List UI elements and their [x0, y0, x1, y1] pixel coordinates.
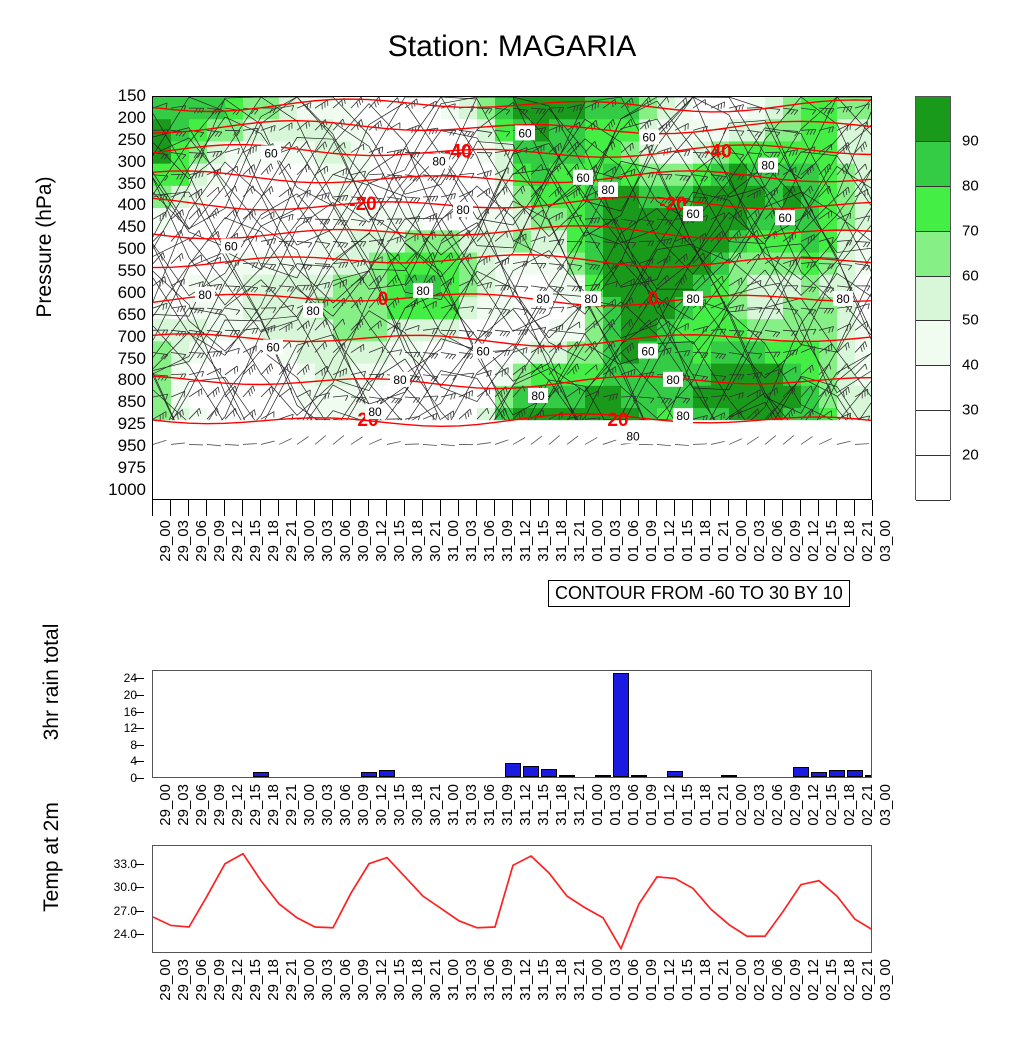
- x-tick-label: 02_12: [805, 784, 822, 826]
- x-tick-label: 01_03: [607, 959, 624, 1001]
- svg-text:80: 80: [601, 183, 615, 197]
- x-tick-label: 01_21: [715, 959, 732, 1001]
- colorbar-tick-label: 50: [962, 312, 979, 329]
- x-tick-label: 02_03: [751, 959, 768, 1001]
- x-tick-mark: [422, 500, 423, 516]
- x-tick-label: 29_06: [193, 520, 210, 562]
- rain-y-tick-mark: [135, 761, 144, 762]
- x-tick-label: 29_09: [211, 520, 228, 562]
- rain-y-tick-mark: [135, 728, 144, 729]
- x-tick-mark: [782, 500, 783, 516]
- x-tick-label: 31_06: [481, 520, 498, 562]
- x-tick-label: 31_12: [517, 959, 534, 1001]
- x-tick-label: 01_03: [607, 784, 624, 826]
- x-tick-label: 01_00: [589, 959, 606, 1001]
- temp-y-tick-mark: [135, 887, 144, 888]
- svg-text:60: 60: [778, 211, 792, 225]
- temperature-line-chart: [152, 845, 872, 953]
- x-tick-label: 30_15: [391, 784, 408, 826]
- x-tick-label: 02_18: [841, 959, 858, 1001]
- x-tick-label: 31_21: [571, 520, 588, 562]
- main-y-tick-label: 750: [118, 349, 146, 369]
- rain-bar: [631, 775, 646, 777]
- time-height-cross-section: -40-40-20-200020206060606080808080606060…: [152, 96, 872, 500]
- svg-text:80: 80: [416, 284, 430, 298]
- temp-y-tick-label: 30.0: [114, 880, 137, 894]
- x-tick-mark: [494, 500, 495, 516]
- svg-text:80: 80: [676, 409, 690, 423]
- x-tick-mark: [638, 500, 639, 516]
- x-tick-label: 30_09: [355, 784, 372, 826]
- svg-text:80: 80: [456, 203, 470, 217]
- x-tick-label: 29_21: [283, 959, 300, 1001]
- rain-y-tick-mark: [135, 745, 144, 746]
- main-y-tick-label: 700: [118, 327, 146, 347]
- x-tick-label: 29_06: [193, 784, 210, 826]
- x-tick-label: 29_00: [157, 784, 174, 826]
- x-tick-label: 29_15: [247, 784, 264, 826]
- x-tick-label: 02_21: [859, 520, 876, 562]
- rain-bar: [865, 775, 872, 777]
- colorbar-segment: [916, 277, 950, 322]
- x-tick-mark: [656, 500, 657, 516]
- svg-text:80: 80: [393, 373, 407, 387]
- temp-y-tick-mark: [135, 934, 144, 935]
- main-y-tick-label: 800: [118, 370, 146, 390]
- x-tick-label: 01_15: [679, 520, 696, 562]
- rain-bar: [721, 775, 736, 777]
- x-tick-label: 29_03: [175, 959, 192, 1001]
- main-y-tick-label: 650: [118, 305, 146, 325]
- colorbar-tick-label: 20: [962, 447, 979, 464]
- rain-bar: [559, 775, 574, 777]
- x-tick-mark: [710, 500, 711, 516]
- main-y-tick-label: 400: [118, 195, 146, 215]
- rain-bar: [505, 763, 520, 777]
- rain-bar: [847, 770, 862, 777]
- humidity-colorbar: [915, 96, 951, 500]
- x-tick-label: 30_06: [337, 784, 354, 826]
- colorbar-tick-label: 30: [962, 402, 979, 419]
- x-tick-label: 31_15: [535, 784, 552, 826]
- temp-y-tick-label: 27.0: [114, 904, 137, 918]
- x-tick-label: 03_00: [877, 520, 894, 562]
- svg-text:60: 60: [264, 147, 278, 161]
- temp-x-axis-labels: 29_0029_0329_0629_0929_1229_1529_1829_21…: [152, 959, 872, 1049]
- x-tick-label: 30_12: [373, 959, 390, 1001]
- colorbar-segment: [916, 232, 950, 277]
- rain-bar: [523, 766, 538, 777]
- x-tick-mark: [764, 500, 765, 516]
- x-tick-label: 30_00: [301, 520, 318, 562]
- colorbar-segment: [916, 187, 950, 232]
- x-tick-label: 01_21: [715, 520, 732, 562]
- svg-text:80: 80: [536, 292, 550, 306]
- x-tick-label: 01_18: [697, 959, 714, 1001]
- contour-caption: CONTOUR FROM -60 TO 30 BY 10: [548, 580, 850, 607]
- x-tick-mark: [458, 500, 459, 516]
- x-tick-label: 30_00: [301, 959, 318, 1001]
- x-tick-label: 29_12: [229, 784, 246, 826]
- x-tick-label: 01_00: [589, 520, 606, 562]
- rain-bar: [811, 772, 826, 777]
- x-tick-mark: [818, 500, 819, 516]
- x-tick-mark: [476, 500, 477, 516]
- main-y-tick-label: 350: [118, 174, 146, 194]
- main-y-axis-title: Pressure (hPa): [33, 137, 57, 357]
- svg-text:-20: -20: [349, 194, 376, 215]
- colorbar-tick-label: 60: [962, 267, 979, 284]
- main-y-tick-label: 925: [118, 414, 146, 434]
- x-tick-label: 01_09: [643, 520, 660, 562]
- x-tick-label: 30_12: [373, 520, 390, 562]
- x-tick-label: 31_06: [481, 784, 498, 826]
- x-tick-mark: [386, 500, 387, 516]
- main-y-tick-label: 150: [118, 86, 146, 106]
- x-tick-label: 30_21: [427, 959, 444, 1001]
- x-tick-mark: [314, 500, 315, 516]
- main-y-tick-label: 950: [118, 436, 146, 456]
- x-tick-label: 01_21: [715, 784, 732, 826]
- svg-text:-20: -20: [659, 194, 686, 215]
- x-tick-mark: [368, 500, 369, 516]
- x-tick-label: 31_03: [463, 784, 480, 826]
- x-tick-label: 02_21: [859, 959, 876, 1001]
- x-tick-mark: [602, 500, 603, 516]
- temp-y-tick-mark: [135, 864, 144, 865]
- x-tick-label: 01_15: [679, 959, 696, 1001]
- x-tick-label: 29_09: [211, 784, 228, 826]
- x-tick-mark: [350, 500, 351, 516]
- x-tick-label: 01_12: [661, 520, 678, 562]
- x-tick-label: 30_21: [427, 520, 444, 562]
- x-tick-label: 29_03: [175, 520, 192, 562]
- x-tick-mark: [206, 500, 207, 516]
- svg-text:80: 80: [368, 405, 382, 419]
- colorbar-segment: [916, 456, 950, 501]
- x-tick-mark: [566, 500, 567, 516]
- x-tick-label: 02_12: [805, 520, 822, 562]
- x-tick-label: 29_21: [283, 520, 300, 562]
- svg-text:80: 80: [584, 292, 598, 306]
- x-tick-label: 31_21: [571, 784, 588, 826]
- colorbar-tick-label: 70: [962, 222, 979, 239]
- svg-text:80: 80: [531, 389, 545, 403]
- x-tick-label: 31_12: [517, 520, 534, 562]
- x-tick-label: 02_00: [733, 784, 750, 826]
- x-tick-mark: [692, 500, 693, 516]
- x-tick-label: 02_15: [823, 959, 840, 1001]
- x-tick-label: 29_15: [247, 520, 264, 562]
- svg-text:60: 60: [476, 345, 490, 359]
- x-tick-label: 02_06: [769, 520, 786, 562]
- x-tick-label: 02_09: [787, 520, 804, 562]
- temp-y-axis-labels: 24.027.030.033.0: [95, 845, 147, 953]
- cross-section-canvas: -40-40-20-200020206060606080808080606060…: [153, 97, 872, 500]
- x-tick-label: 01_12: [661, 959, 678, 1001]
- colorbar-segment: [916, 97, 950, 142]
- x-tick-label: 01_03: [607, 520, 624, 562]
- svg-text:60: 60: [686, 207, 700, 221]
- x-tick-label: 01_18: [697, 520, 714, 562]
- x-tick-label: 02_12: [805, 959, 822, 1001]
- x-tick-label: 03_00: [877, 959, 894, 1001]
- x-tick-label: 01_15: [679, 784, 696, 826]
- main-y-tick-label: 200: [118, 108, 146, 128]
- x-tick-mark: [296, 500, 297, 516]
- rain-y-tick-mark: [135, 695, 144, 696]
- svg-text:60: 60: [642, 130, 656, 144]
- svg-text:0: 0: [378, 289, 389, 310]
- x-tick-mark: [620, 500, 621, 516]
- x-tick-label: 02_06: [769, 784, 786, 826]
- svg-text:80: 80: [836, 292, 850, 306]
- svg-text:-40: -40: [704, 142, 731, 163]
- svg-text:80: 80: [686, 292, 700, 306]
- x-tick-label: 02_03: [751, 520, 768, 562]
- x-tick-label: 30_03: [319, 520, 336, 562]
- figure-root: Station: MAGARIA Pressure (hPa) 15020025…: [0, 0, 1024, 1024]
- x-tick-label: 30_18: [409, 784, 426, 826]
- x-tick-label: 31_09: [499, 959, 516, 1001]
- x-tick-label: 30_15: [391, 959, 408, 1001]
- x-tick-mark: [242, 500, 243, 516]
- x-tick-label: 02_18: [841, 520, 858, 562]
- x-tick-label: 01_09: [643, 784, 660, 826]
- x-tick-mark: [152, 500, 153, 516]
- x-tick-label: 02_09: [787, 959, 804, 1001]
- x-tick-label: 29_03: [175, 784, 192, 826]
- x-tick-label: 30_03: [319, 784, 336, 826]
- x-tick-label: 31_18: [553, 784, 570, 826]
- temp-y-axis-title: Temp at 2m: [40, 747, 64, 967]
- rain-bar: [829, 770, 844, 777]
- x-tick-label: 29_09: [211, 959, 228, 1001]
- x-tick-label: 30_09: [355, 520, 372, 562]
- svg-text:80: 80: [432, 155, 446, 169]
- x-tick-label: 31_06: [481, 959, 498, 1001]
- rain-bar: [793, 767, 808, 777]
- x-tick-label: 02_06: [769, 959, 786, 1001]
- svg-text:80: 80: [626, 429, 640, 443]
- main-y-tick-label: 250: [118, 130, 146, 150]
- x-tick-label: 31_09: [499, 520, 516, 562]
- x-tick-label: 30_00: [301, 784, 318, 826]
- x-tick-label: 31_03: [463, 959, 480, 1001]
- x-tick-label: 29_15: [247, 959, 264, 1001]
- temp-y-tick-mark: [135, 911, 144, 912]
- rain-y-tick-mark: [135, 778, 144, 779]
- x-tick-label: 29_12: [229, 959, 246, 1001]
- temperature-canvas: [153, 846, 872, 953]
- svg-text:60: 60: [266, 340, 280, 354]
- x-tick-mark: [836, 500, 837, 516]
- x-tick-label: 30_06: [337, 959, 354, 1001]
- rain-y-tick-mark: [135, 678, 144, 679]
- x-tick-label: 01_06: [625, 959, 642, 1001]
- x-tick-label: 31_15: [535, 959, 552, 1001]
- colorbar-segment: [916, 321, 950, 366]
- x-tick-label: 31_15: [535, 520, 552, 562]
- x-tick-mark: [224, 500, 225, 516]
- x-tick-label: 31_09: [499, 784, 516, 826]
- x-tick-mark: [674, 500, 675, 516]
- svg-text:60: 60: [641, 345, 655, 359]
- rain-bar: [667, 771, 682, 777]
- svg-text:80: 80: [761, 159, 775, 173]
- x-tick-mark: [872, 500, 873, 516]
- x-tick-label: 02_15: [823, 520, 840, 562]
- x-tick-mark: [188, 500, 189, 516]
- main-y-tick-label: 300: [118, 152, 146, 172]
- x-tick-mark: [728, 500, 729, 516]
- x-tick-mark: [530, 500, 531, 516]
- x-tick-label: 30_15: [391, 520, 408, 562]
- x-tick-label: 02_00: [733, 959, 750, 1001]
- x-tick-label: 29_00: [157, 959, 174, 1001]
- main-y-tick-label: 1000: [108, 480, 146, 500]
- x-tick-label: 01_06: [625, 784, 642, 826]
- x-tick-label: 30_03: [319, 959, 336, 1001]
- colorbar-tick-label: 80: [962, 177, 979, 194]
- main-y-tick-label: 550: [118, 261, 146, 281]
- x-tick-label: 01_12: [661, 784, 678, 826]
- x-tick-mark: [404, 500, 405, 516]
- x-tick-label: 02_00: [733, 520, 750, 562]
- x-tick-label: 02_21: [859, 784, 876, 826]
- rain-bar: [541, 769, 556, 777]
- x-tick-label: 02_15: [823, 784, 840, 826]
- rain-bar: [361, 772, 376, 777]
- x-tick-mark: [548, 500, 549, 516]
- rain-bar: [613, 673, 628, 777]
- x-tick-mark: [278, 500, 279, 516]
- x-tick-label: 01_00: [589, 784, 606, 826]
- x-tick-label: 30_21: [427, 784, 444, 826]
- x-tick-mark: [746, 500, 747, 516]
- x-tick-label: 31_00: [445, 784, 462, 826]
- main-y-tick-label: 500: [118, 239, 146, 259]
- x-tick-label: 29_18: [265, 959, 282, 1001]
- temp-y-tick-label: 24.0: [114, 927, 137, 941]
- rain-bar: [595, 775, 610, 777]
- x-tick-mark: [440, 500, 441, 516]
- x-tick-label: 31_21: [571, 959, 588, 1001]
- main-y-tick-label: 850: [118, 392, 146, 412]
- svg-text:20: 20: [607, 410, 628, 431]
- svg-text:0: 0: [648, 289, 659, 310]
- temp-y-tick-label: 33.0: [114, 857, 137, 871]
- colorbar-tick-label: 90: [962, 132, 979, 149]
- rain-bar: [253, 772, 268, 777]
- x-tick-label: 30_09: [355, 959, 372, 1001]
- x-tick-label: 31_00: [445, 520, 462, 562]
- x-tick-label: 02_03: [751, 784, 768, 826]
- rain-y-tick-mark: [135, 712, 144, 713]
- x-tick-label: 29_18: [265, 784, 282, 826]
- rain-bar-chart: [152, 670, 872, 778]
- x-tick-label: 30_18: [409, 520, 426, 562]
- x-tick-label: 01_06: [625, 520, 642, 562]
- x-tick-label: 29_00: [157, 520, 174, 562]
- x-tick-mark: [854, 500, 855, 516]
- x-tick-mark: [800, 500, 801, 516]
- x-tick-label: 01_09: [643, 959, 660, 1001]
- colorbar-segment: [916, 366, 950, 411]
- main-y-axis-labels: 1502002503003504004505005506006507007508…: [60, 96, 146, 500]
- svg-text:60: 60: [576, 171, 590, 185]
- x-tick-label: 31_00: [445, 959, 462, 1001]
- x-tick-mark: [584, 500, 585, 516]
- x-tick-label: 31_18: [553, 520, 570, 562]
- main-y-tick-label: 600: [118, 283, 146, 303]
- x-tick-label: 31_18: [553, 959, 570, 1001]
- x-tick-label: 29_21: [283, 784, 300, 826]
- x-tick-label: 30_12: [373, 784, 390, 826]
- x-tick-mark: [512, 500, 513, 516]
- x-tick-label: 02_09: [787, 784, 804, 826]
- svg-text:80: 80: [666, 373, 680, 387]
- rain-bar: [379, 770, 394, 777]
- x-tick-mark: [170, 500, 171, 516]
- svg-text:80: 80: [198, 288, 212, 302]
- x-tick-label: 29_18: [265, 520, 282, 562]
- svg-text:80: 80: [306, 304, 320, 318]
- rain-y-axis-labels: 04812162024: [95, 670, 147, 778]
- page-title: Station: MAGARIA: [0, 30, 1024, 64]
- x-tick-label: 29_06: [193, 959, 210, 1001]
- svg-text:60: 60: [224, 239, 238, 253]
- colorbar-tick-label: 40: [962, 357, 979, 374]
- x-tick-label: 02_18: [841, 784, 858, 826]
- x-tick-mark: [332, 500, 333, 516]
- colorbar-segment: [916, 411, 950, 456]
- x-tick-label: 01_18: [697, 784, 714, 826]
- main-y-tick-label: 975: [118, 458, 146, 478]
- x-tick-label: 31_03: [463, 520, 480, 562]
- x-tick-label: 31_12: [517, 784, 534, 826]
- x-tick-label: 30_18: [409, 959, 426, 1001]
- x-tick-mark: [260, 500, 261, 516]
- x-tick-label: 30_06: [337, 520, 354, 562]
- svg-text:60: 60: [518, 126, 532, 140]
- x-tick-label: 03_00: [877, 784, 894, 826]
- colorbar-segment: [916, 142, 950, 187]
- x-tick-label: 29_12: [229, 520, 246, 562]
- main-y-tick-label: 450: [118, 217, 146, 237]
